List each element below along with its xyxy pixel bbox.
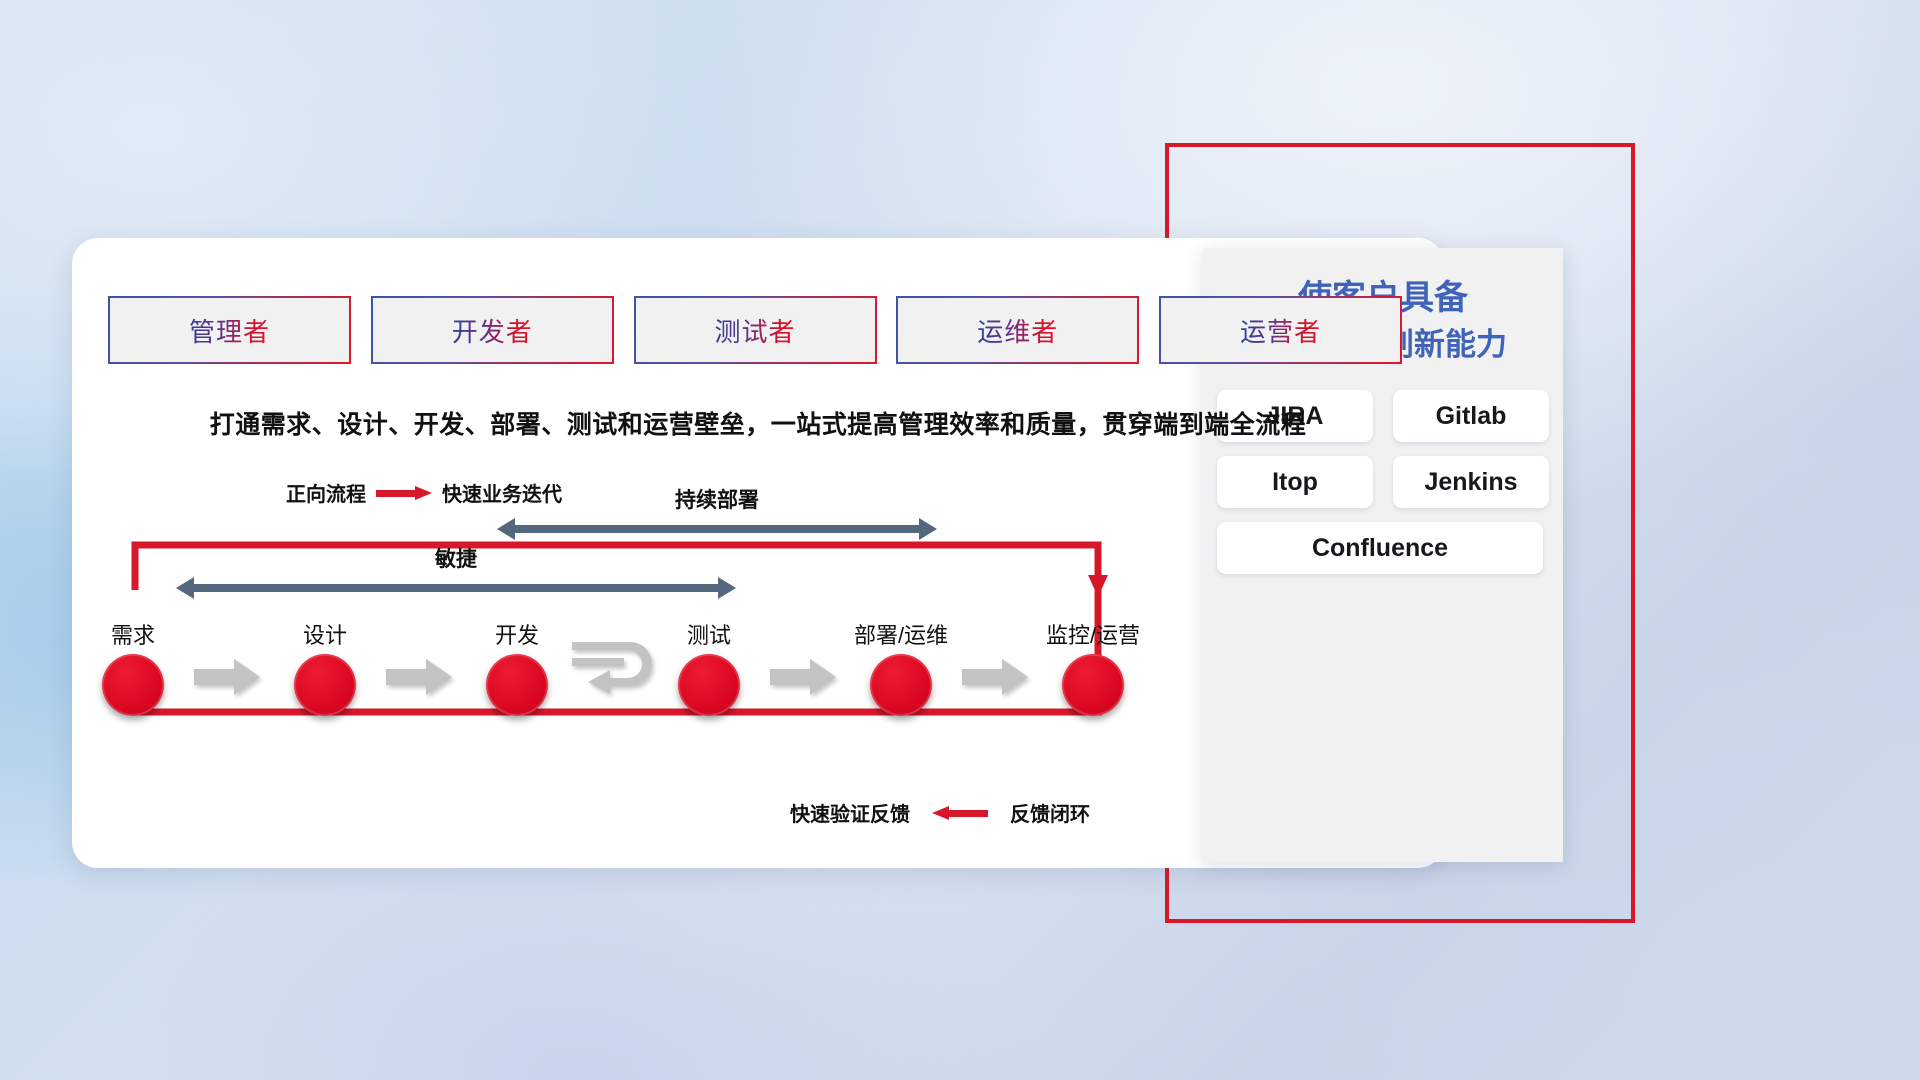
flow-arrow-icon (962, 657, 1032, 697)
pipeline-stage-design[interactable]: 设计 (255, 618, 395, 716)
role-box-operations-engineer[interactable]: 运维者 (898, 298, 1137, 362)
flow-arrow-icon (770, 657, 840, 697)
flow-arrow-icon (194, 657, 264, 697)
pipeline-stage-monitor-operations[interactable]: 监控/运营 (1023, 618, 1163, 716)
pipeline-stage-dot (102, 654, 164, 716)
legend-feedback-left-label: 快速验证反馈 (790, 798, 910, 827)
arrow-left-icon (932, 806, 988, 820)
span-arrow-continuous-deployment: 持续部署 (497, 518, 937, 540)
flow-arrow-icon (386, 657, 456, 697)
pipeline-stage-dot (294, 654, 356, 716)
pipeline-stage-label: 测试 (639, 618, 779, 650)
pipeline-stage-label: 需求 (63, 618, 203, 650)
span-arrow-agile: 敏捷 (176, 577, 736, 599)
arrow-right-icon (376, 486, 432, 500)
pipeline-stage-dot (486, 654, 548, 716)
pipeline-stage-label: 部署/运维 (831, 618, 971, 650)
role-label: 运维者 (977, 312, 1058, 349)
tool-chip-confluence[interactable]: Confluence (1217, 522, 1543, 574)
pipeline-stage-dot (678, 654, 740, 716)
span-arrow-caption: 敏捷 (176, 543, 736, 573)
role-label: 测试者 (714, 312, 795, 349)
pipeline-stage-test[interactable]: 测试 (639, 618, 779, 716)
tool-chip-jenkins[interactable]: Jenkins (1393, 456, 1549, 508)
pipeline-stage-dot (1062, 654, 1124, 716)
role-box-manager[interactable]: 管理者 (110, 298, 349, 362)
pipeline-stage-deploy-ops[interactable]: 部署/运维 (831, 618, 971, 716)
pipeline-stage-label: 监控/运营 (1023, 618, 1163, 650)
span-arrow-caption: 持续部署 (497, 484, 937, 514)
devops-pipeline: 需求 设计 开发 测试 部署/运维 监控/运营 (98, 618, 1418, 728)
tool-chip-itop[interactable]: Itop (1217, 456, 1373, 508)
legend-feedback-right-label: 反馈闭环 (1010, 798, 1090, 827)
legend-forward-left-label: 正向流程 (286, 478, 366, 507)
role-label: 运营者 (1240, 312, 1321, 349)
description-text: 打通需求、设计、开发、部署、测试和运营壁垒，一站式提高管理效率和质量，贯穿端到端… (0, 405, 1516, 441)
legend-feedback-loop: 快速验证反馈 反馈闭环 (790, 798, 1090, 827)
role-box-row: 管理者 开发者 测试者 运维者 运营者 (110, 298, 1400, 362)
pipeline-stage-dot (870, 654, 932, 716)
pipeline-stage-label: 设计 (255, 618, 395, 650)
pipeline-stage-requirement[interactable]: 需求 (63, 618, 203, 716)
role-label: 开发者 (452, 312, 533, 349)
role-label: 管理者 (189, 312, 270, 349)
role-box-tester[interactable]: 测试者 (636, 298, 875, 362)
role-box-business-operator[interactable]: 运营者 (1161, 298, 1400, 362)
role-box-developer[interactable]: 开发者 (373, 298, 612, 362)
